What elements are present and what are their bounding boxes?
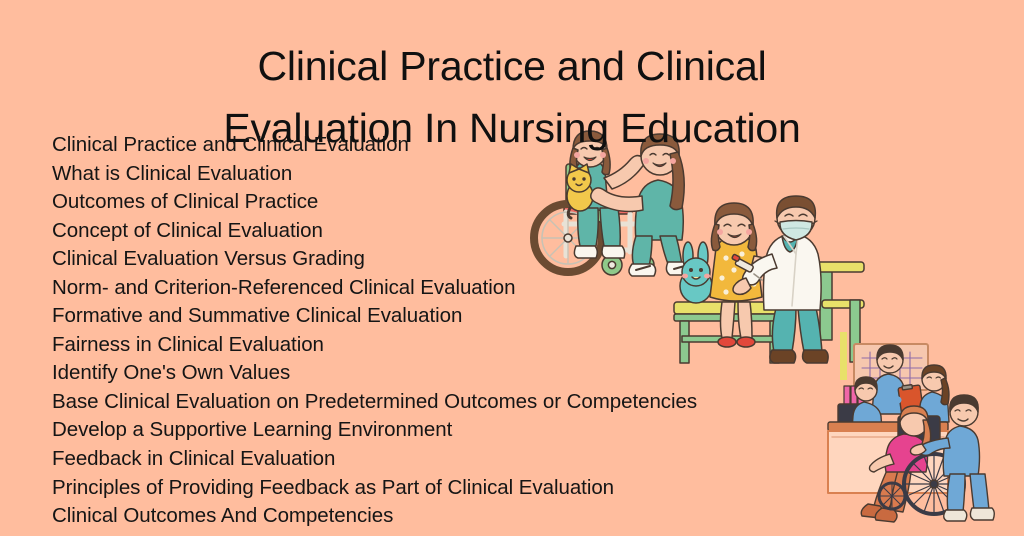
list-item: Formative and Summative Clinical Evaluat… — [52, 302, 792, 331]
list-item: Norm- and Criterion-Referenced Clinical … — [52, 274, 792, 303]
list-item: What is Clinical Evaluation — [52, 160, 792, 189]
illustration-nurses-station-with-patient — [826, 330, 1024, 536]
list-item: Principles of Providing Feedback as Part… — [52, 474, 792, 503]
list-item: Base Clinical Evaluation on Predetermine… — [52, 388, 792, 417]
list-item: Outcomes of Clinical Practice — [52, 188, 792, 217]
list-item: Concept of Clinical Evaluation — [52, 217, 792, 246]
slide-canvas: Clinical Practice and Clinical Evaluatio… — [0, 0, 1024, 536]
list-item: Develop a Supportive Learning Environmen… — [52, 416, 792, 445]
list-item: Identify One's Own Values — [52, 359, 792, 388]
list-item: Feedback in Clinical Evaluation — [52, 445, 792, 474]
nurses-station-graphic — [826, 330, 1024, 536]
list-item: Clinical Evaluation Versus Grading — [52, 245, 792, 274]
topic-list: Clinical Practice and Clinical Evaluatio… — [52, 131, 792, 531]
list-item: Clinical Outcomes And Competencies — [52, 502, 792, 531]
list-item: Clinical Practice and Clinical Evaluatio… — [52, 131, 792, 160]
list-item: Fairness in Clinical Evaluation — [52, 331, 792, 360]
